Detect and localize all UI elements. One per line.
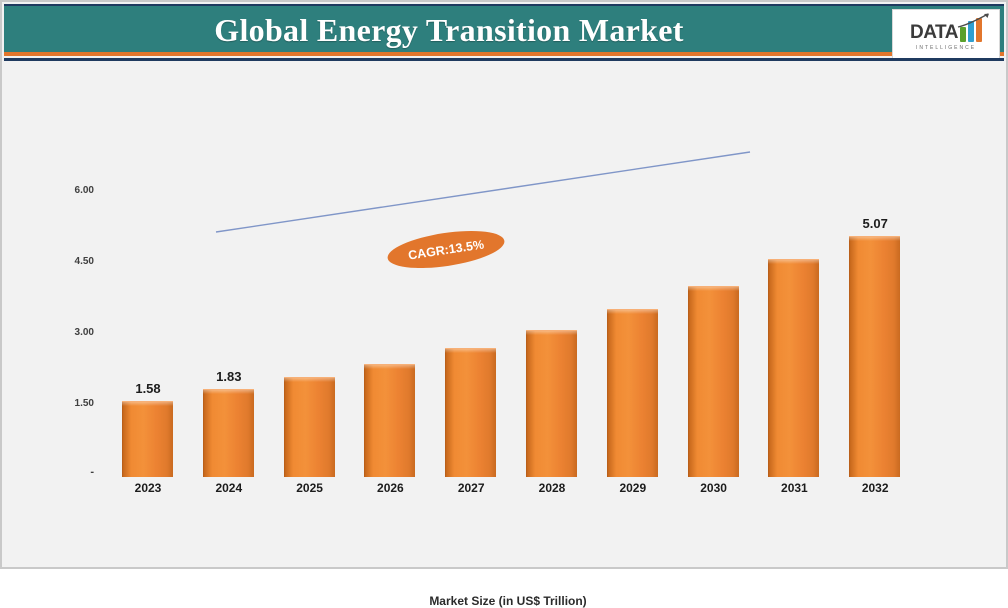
x-axis-label-2031: 2031 — [759, 481, 829, 495]
bar-value-label-2024: 1.83 — [194, 369, 264, 384]
bar-2023 — [122, 401, 173, 477]
header-banner: Global Energy Transition Market DATA INT… — [4, 4, 1004, 56]
x-axis-label-2025: 2025 — [275, 481, 345, 495]
chart-caption: Market Size (in US$ Trillion) — [4, 594, 1008, 608]
growth-arrow-icon — [957, 13, 991, 29]
x-axis-label-2029: 2029 — [598, 481, 668, 495]
page-title: Global Energy Transition Market — [4, 6, 894, 54]
bar-value-label-2032: 5.07 — [840, 216, 910, 231]
bar-2024 — [203, 389, 254, 477]
bar-value-label-2023: 1.58 — [113, 381, 183, 396]
bar-2029 — [607, 309, 658, 477]
x-axis-label-2023: 2023 — [113, 481, 183, 495]
bar-2025 — [284, 377, 335, 477]
plot-area: 1.5820231.832024202520262027202820292030… — [4, 61, 1004, 567]
chart-page: Global Energy Transition Market DATA INT… — [0, 0, 1008, 569]
x-axis-label-2028: 2028 — [517, 481, 587, 495]
bar-2026 — [364, 364, 415, 477]
brand-logo: DATA INTELLIGENCE — [892, 9, 1000, 59]
bar-2028 — [526, 330, 577, 477]
x-axis-label-2030: 2030 — [679, 481, 749, 495]
x-axis-label-2032: 2032 — [840, 481, 910, 495]
x-axis-label-2027: 2027 — [436, 481, 506, 495]
logo-wordmark: DATA — [910, 23, 958, 42]
bar-2030 — [688, 286, 739, 477]
bar-2027 — [445, 348, 496, 477]
chart-canvas: 6.004.503.001.50- CAGR:13.5% 1.5820231.8… — [4, 61, 1004, 567]
bar-2031 — [768, 259, 819, 477]
x-axis-label-2024: 2024 — [194, 481, 264, 495]
bar-2032 — [849, 236, 900, 477]
logo-subtitle: INTELLIGENCE — [916, 45, 976, 51]
x-axis-label-2026: 2026 — [355, 481, 425, 495]
